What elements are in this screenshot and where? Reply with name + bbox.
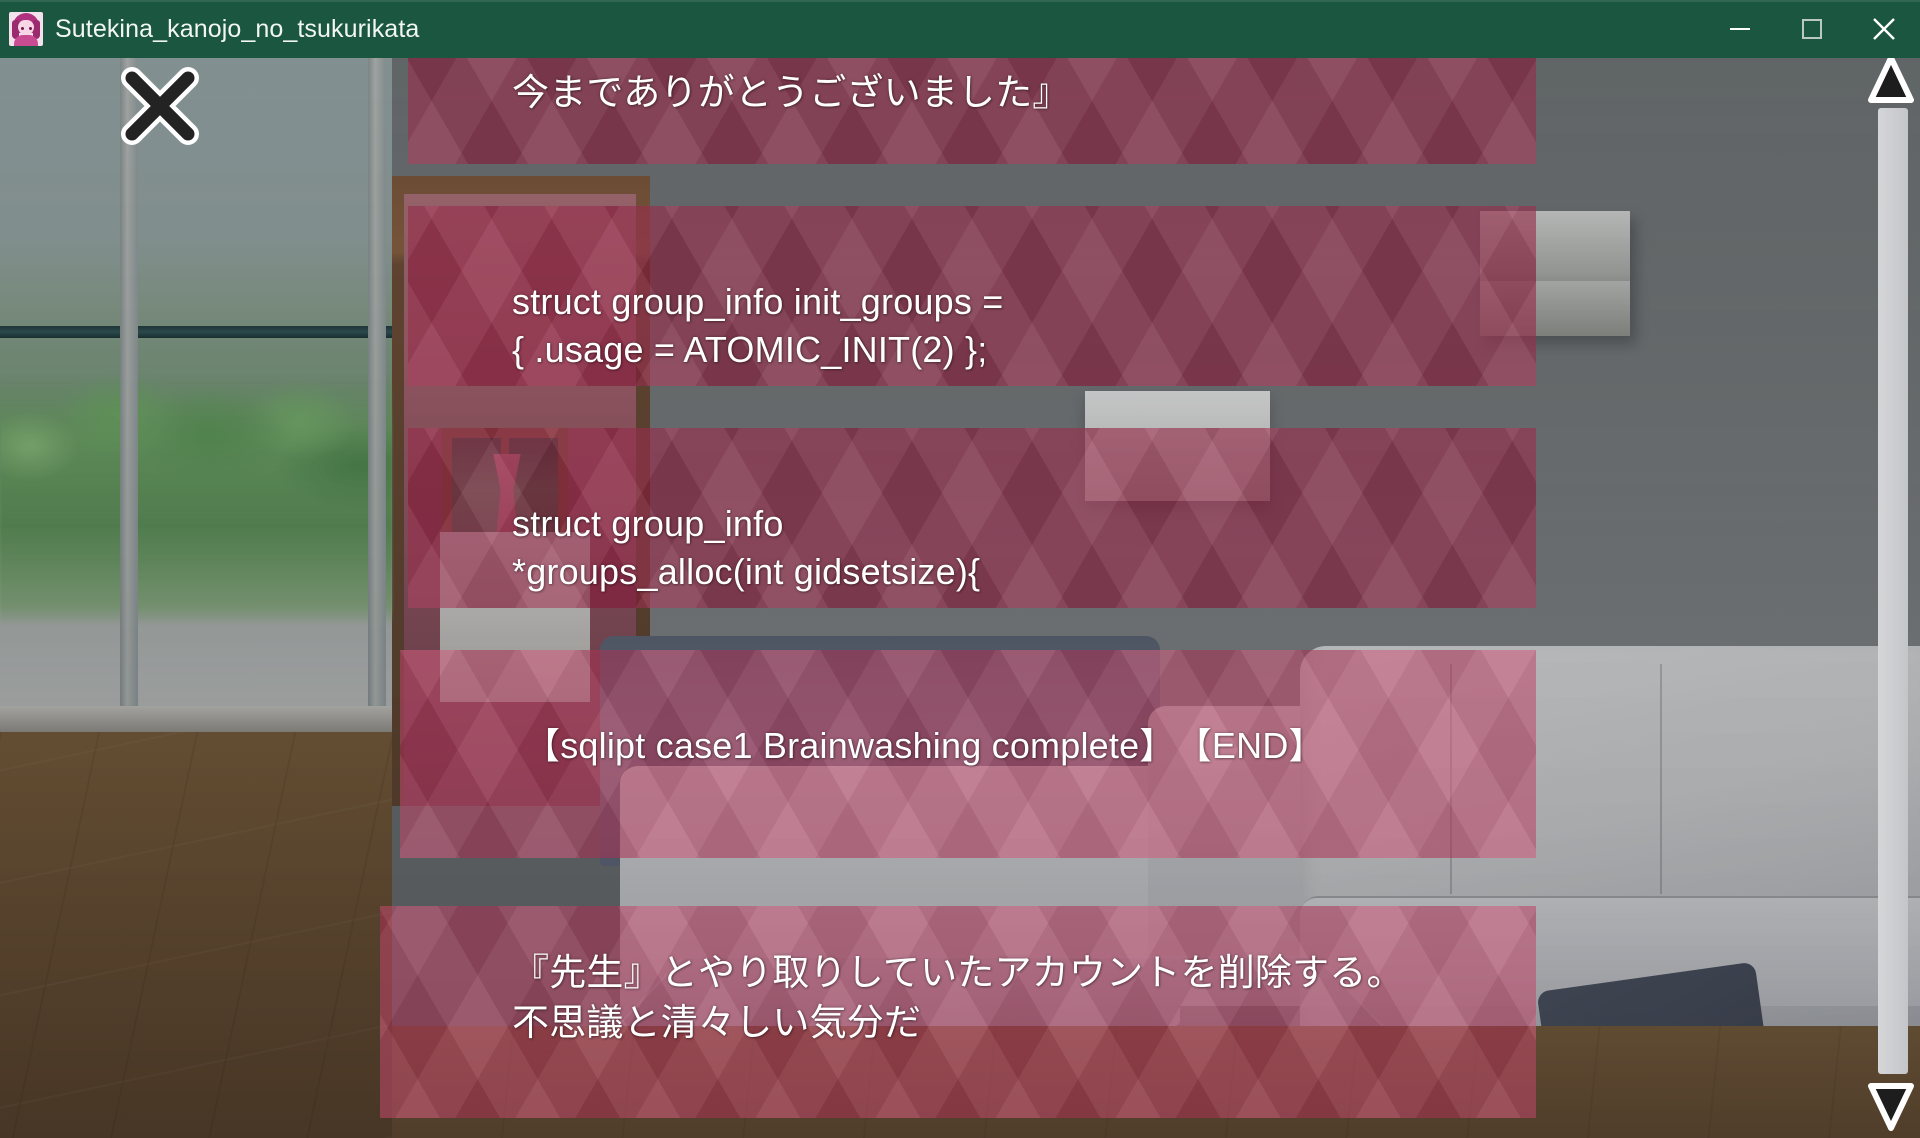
application-window: 今までありがとうございました』 struct group_info init_g…: [0, 0, 1920, 1138]
window-controls: [1704, 0, 1920, 58]
window-mullion-vertical: [368, 46, 386, 718]
cushion-seam: [1660, 664, 1662, 894]
minimize-button[interactable]: [1704, 0, 1776, 58]
scroll-up-arrow-icon[interactable]: [1868, 54, 1914, 108]
text-band-5[interactable]: [380, 906, 1536, 1118]
window-title: Sutekina_kanojo_no_tsukurikata: [55, 15, 419, 44]
text-band-2[interactable]: [408, 206, 1536, 386]
text-band-4[interactable]: [400, 650, 1536, 858]
text-band-3[interactable]: [408, 428, 1536, 608]
app-icon-anime-girl: [9, 12, 43, 46]
outdoor-foliage: [0, 376, 392, 626]
scroll-down-arrow-icon[interactable]: [1868, 1078, 1914, 1132]
window-mullion-horizontal: [0, 326, 392, 338]
close-x-icon[interactable]: [112, 58, 208, 154]
window-sill: [0, 706, 392, 732]
icon-body: [14, 35, 38, 46]
title-bar[interactable]: Sutekina_kanojo_no_tsukurikata: [0, 0, 1920, 58]
floor-left: [0, 732, 392, 1138]
text-band-1[interactable]: [408, 46, 1536, 164]
scrollbar-thumb[interactable]: [1878, 108, 1908, 1074]
vertical-scrollbar[interactable]: [1862, 46, 1920, 1138]
icon-eye-left: [21, 27, 24, 30]
game-viewport[interactable]: 今までありがとうございました』 struct group_info init_g…: [0, 46, 1920, 1138]
maximize-button[interactable]: [1776, 0, 1848, 58]
close-button[interactable]: [1848, 0, 1920, 58]
icon-eye-right: [29, 27, 32, 30]
